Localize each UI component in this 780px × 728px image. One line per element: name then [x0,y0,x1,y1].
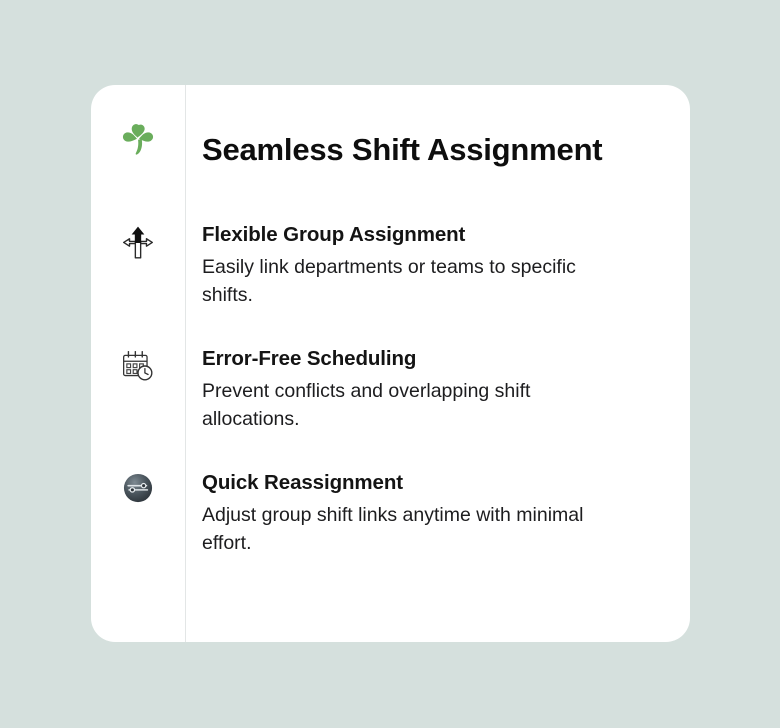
feature-body-0: Easily link departments or teams to spec… [202,253,622,310]
toggle-sphere-icon [91,471,185,503]
page-title: Seamless Shift Assignment [202,118,602,169]
feature-body-1: Prevent conflicts and overlapping shift … [202,377,622,434]
four-leaf-clover-icon [91,118,185,162]
feature-row-0: Flexible Group Assignment Easily link de… [91,223,690,310]
feature-row-2: Quick Reassignment Adjust group shift li… [91,471,690,558]
calendar-clock-icon [91,347,185,383]
card-title-cell: Seamless Shift Assignment [185,118,626,169]
feature-text-0: Flexible Group Assignment Easily link de… [185,223,646,310]
direction-sign-icon [91,223,185,261]
feature-row-1: Error-Free Scheduling Prevent conflicts … [91,347,690,434]
feature-body-2: Adjust group shift links anytime with mi… [202,501,622,558]
feature-heading-1: Error-Free Scheduling [202,347,622,372]
feature-text-1: Error-Free Scheduling Prevent conflicts … [185,347,646,434]
page-root: Seamless Shift Assignment Flexible Group [0,0,780,728]
feature-text-2: Quick Reassignment Adjust group shift li… [185,471,646,558]
feature-card: Seamless Shift Assignment Flexible Group [91,85,690,642]
card-rows: Seamless Shift Assignment Flexible Group [91,85,690,642]
feature-heading-2: Quick Reassignment [202,471,622,496]
feature-heading-0: Flexible Group Assignment [202,223,622,248]
card-title-row: Seamless Shift Assignment [91,118,690,169]
